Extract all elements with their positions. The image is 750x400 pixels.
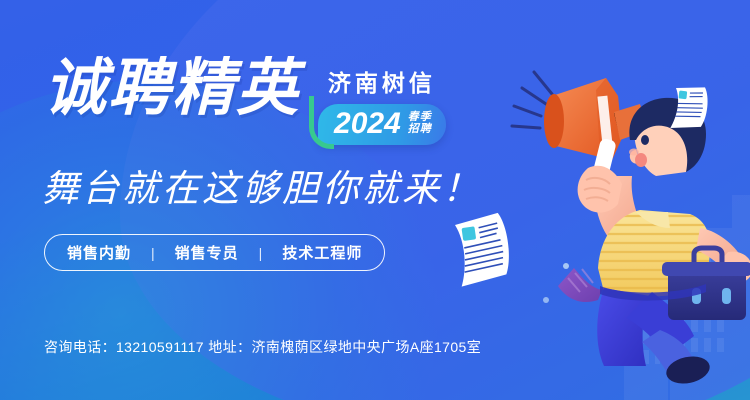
city-building-side: [624, 280, 668, 400]
recruitment-banner: 诚聘精英 济南树信 2024 春季 招聘 舞台就在这够胆你就来！ 销售内勤 | …: [0, 0, 750, 400]
position-item-1[interactable]: 销售内勤: [67, 242, 131, 263]
city-building-main: [670, 228, 732, 400]
year-badge: 2024 春季 招聘: [318, 104, 446, 145]
city-building-far: [732, 195, 750, 400]
headline-row: 诚聘精英 济南树信 2024 春季 招聘: [44, 58, 446, 145]
brand-badge: 济南树信 2024 春季 招聘: [318, 58, 446, 145]
position-item-2[interactable]: 销售专员: [175, 242, 239, 263]
season-label: 春季 招聘: [408, 112, 432, 135]
position-separator-2: |: [259, 245, 263, 261]
position-separator-1: |: [151, 245, 155, 261]
building-window-grid: [678, 238, 724, 400]
subtitle: 舞台就在这够胆你就来！: [42, 158, 482, 212]
positions-pill: 销售内勤 | 销售专员 | 技术工程师: [44, 234, 385, 271]
year-number: 2024: [334, 109, 401, 139]
position-item-3[interactable]: 技术工程师: [282, 242, 362, 263]
company-name: 济南树信: [318, 64, 446, 98]
building-window-grid-side: [632, 290, 660, 400]
season-line-2: 招聘: [408, 124, 432, 136]
page-title: 诚聘精英: [44, 58, 300, 120]
contact-info: 咨询电话：13210591117 地址：济南槐荫区绿地中央广场A座1705室: [44, 337, 481, 357]
